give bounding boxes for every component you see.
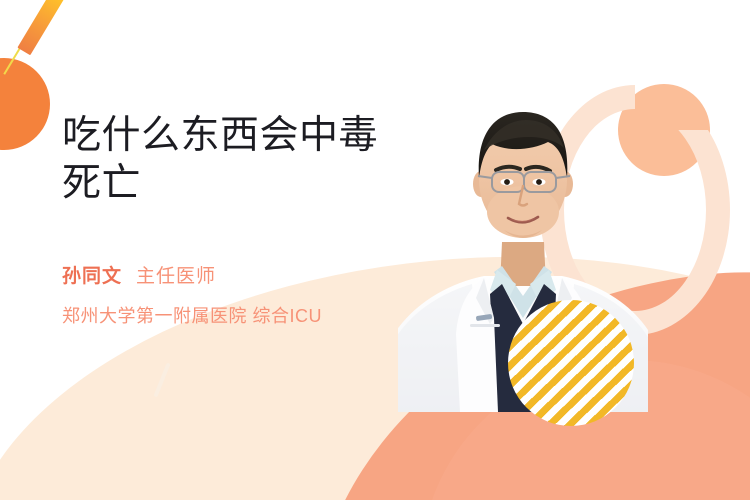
diagonal-streak-thick-decoration [17, 0, 77, 55]
doctor-byline: 孙同文主任医师 [62, 263, 462, 291]
doctor-name: 孙同文 [62, 266, 122, 287]
doctor-affiliation: 郑州大学第一附属医院 综合ICU [62, 303, 462, 329]
page-title: 吃什么东西会中毒 死亡 [62, 112, 462, 208]
diagonal-streak-thin-decoration [3, 0, 60, 75]
video-cover-card: 吃什么东西会中毒 死亡 孙同文主任医师 郑州大学第一附属医院 综合ICU [0, 0, 750, 500]
orange-circle-left-decoration [0, 58, 50, 150]
text-content-block: 吃什么东西会中毒 死亡 孙同文主任医师 郑州大学第一附属医院 综合ICU [62, 112, 462, 329]
faint-diagonal-tick-decoration [153, 363, 170, 398]
doctor-rank: 主任医师 [136, 266, 216, 287]
